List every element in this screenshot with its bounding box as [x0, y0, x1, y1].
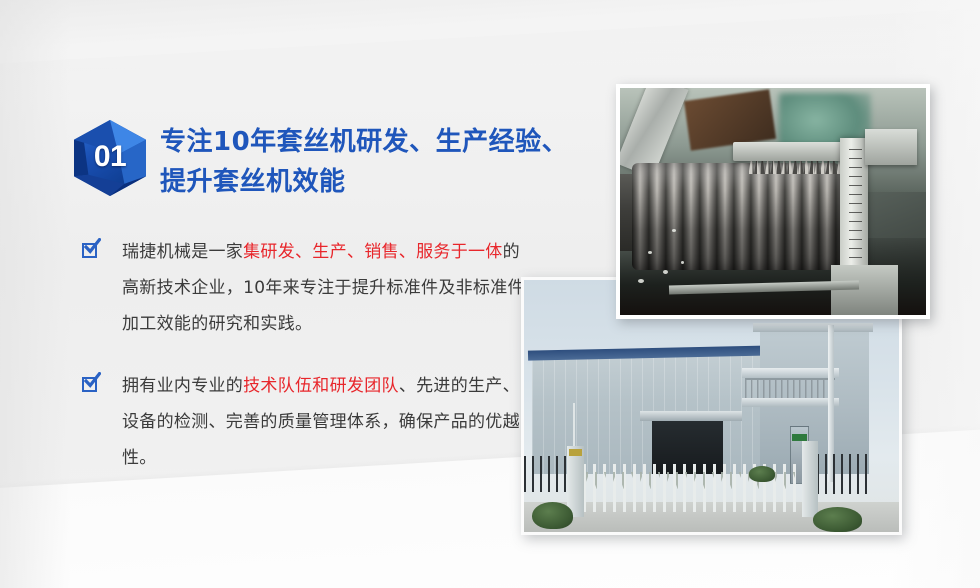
check-mark-glyph: [84, 238, 101, 255]
checkbox-check-icon: [82, 375, 101, 394]
badge-number-label: 01: [74, 120, 146, 196]
balcony-slab-lower: [742, 398, 840, 407]
check-mark-glyph: [84, 372, 101, 389]
content-column: 01 专注10年套丝机研发、生产经验、 提升套丝机效能 瑞捷机械是一家集研发、生…: [0, 0, 560, 588]
list-item-text-part: 拥有业内专业的: [122, 376, 243, 396]
headline-line-2: 提升套丝机效能: [160, 162, 568, 202]
list-item: 拥有业内专业的技术队伍和研发团队、先进的生产、设备的检测、完善的质量管理体系，确…: [82, 368, 527, 476]
gate-pillar-plaque: [569, 449, 582, 456]
exit-sign: [792, 434, 807, 442]
threaded-section: [632, 163, 840, 270]
metal-chip: [672, 229, 676, 232]
headline-line-1: 专注10年套丝机研发、生产经验、: [160, 127, 568, 157]
balcony-slab-upper: [742, 368, 840, 378]
list-item: 瑞捷机械是一家集研发、生产、销售、服务于一体的高新技术企业，10年来专注于提升标…: [82, 234, 527, 342]
shrub-left: [532, 502, 573, 530]
caliper-head: [865, 129, 917, 165]
metal-chip: [681, 261, 684, 264]
gate-pillar-left: [567, 446, 584, 517]
section-number-badge: 01: [74, 120, 146, 196]
banner-stage: 01 专注10年套丝机研发、生产经验、 提升套丝机效能 瑞捷机械是一家集研发、生…: [0, 0, 980, 588]
feature-list: 瑞捷机械是一家集研发、生产、销售、服务于一体的高新技术企业，10年来专注于提升标…: [82, 234, 527, 502]
metal-chip: [638, 279, 644, 283]
metal-chip: [663, 270, 668, 274]
office-roof: [753, 323, 873, 332]
page-title: 专注10年套丝机研发、生产经验、 提升套丝机效能: [160, 118, 568, 202]
list-item-text-highlight: 集研发、生产、销售、服务于一体: [243, 242, 503, 262]
door-canopy: [640, 411, 741, 421]
threaded-rod-caliper-photo: [616, 84, 930, 319]
gate-pillar-right: [802, 441, 819, 517]
list-item-text-highlight: 技术队伍和研发团队: [243, 376, 399, 396]
checkbox-check-icon: [82, 241, 101, 260]
threaded-rod-caliper-photo-content: [620, 88, 926, 315]
list-item-text-part: 瑞捷机械是一家: [122, 242, 243, 262]
shrub-right: [813, 507, 862, 532]
headline-row: 01 专注10年套丝机研发、生产经验、 提升套丝机效能: [74, 118, 568, 202]
shrub-center: [749, 466, 775, 481]
